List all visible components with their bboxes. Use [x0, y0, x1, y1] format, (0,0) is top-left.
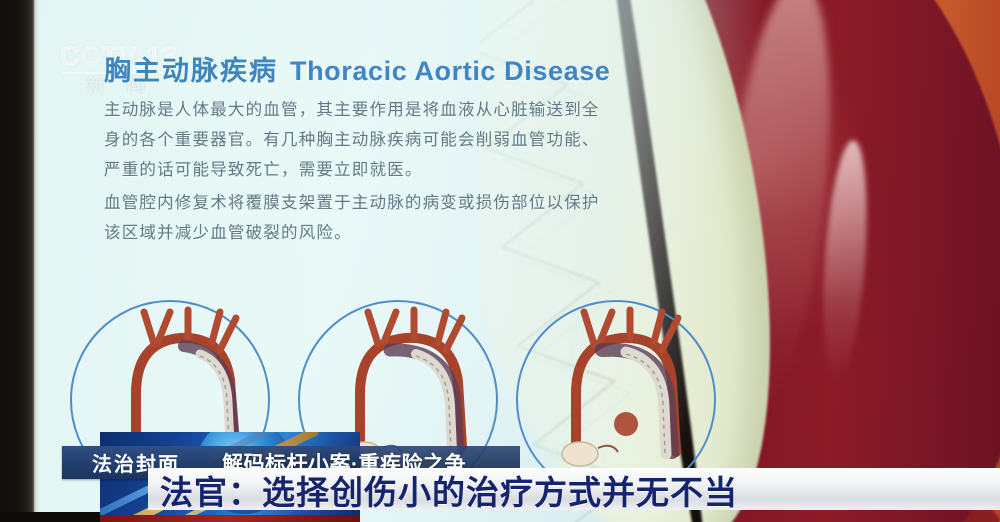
poster-heading-zh: 胸主动脉疾病	[104, 56, 278, 86]
broadcast-screen: CCTV 13 新 闻 胸主动脉疾病Thoracic Aortic Diseas…	[0, 0, 1000, 522]
banner-dark-corner	[0, 512, 100, 522]
headline-bar: 法官：选择创伤小的治疗方式并无不当	[148, 468, 1000, 510]
poster-heading-en: Thoracic Aortic Disease	[290, 56, 610, 86]
poster-heading: 胸主动脉疾病Thoracic Aortic Disease	[104, 49, 610, 88]
banner-accent-stripe	[100, 515, 360, 522]
headline-text: 法官：选择创伤小的治疗方式并无不当	[160, 466, 738, 514]
poster-paragraph-2: 血管腔内修复术将覆膜支架置于主动脉的病变或损伤部位以保护该区域并减少血管破裂的风…	[104, 188, 604, 248]
poster-paragraph-1: 主动脉是人体最大的血管，其主要作用是将血液从心脏输送到全身的各个重要器官。有几种…	[104, 95, 604, 185]
news-lower-third: 法治封面 解码标杆小案·重疾险之争 法官：选择创伤小的治疗方式并无不当	[0, 432, 1000, 522]
